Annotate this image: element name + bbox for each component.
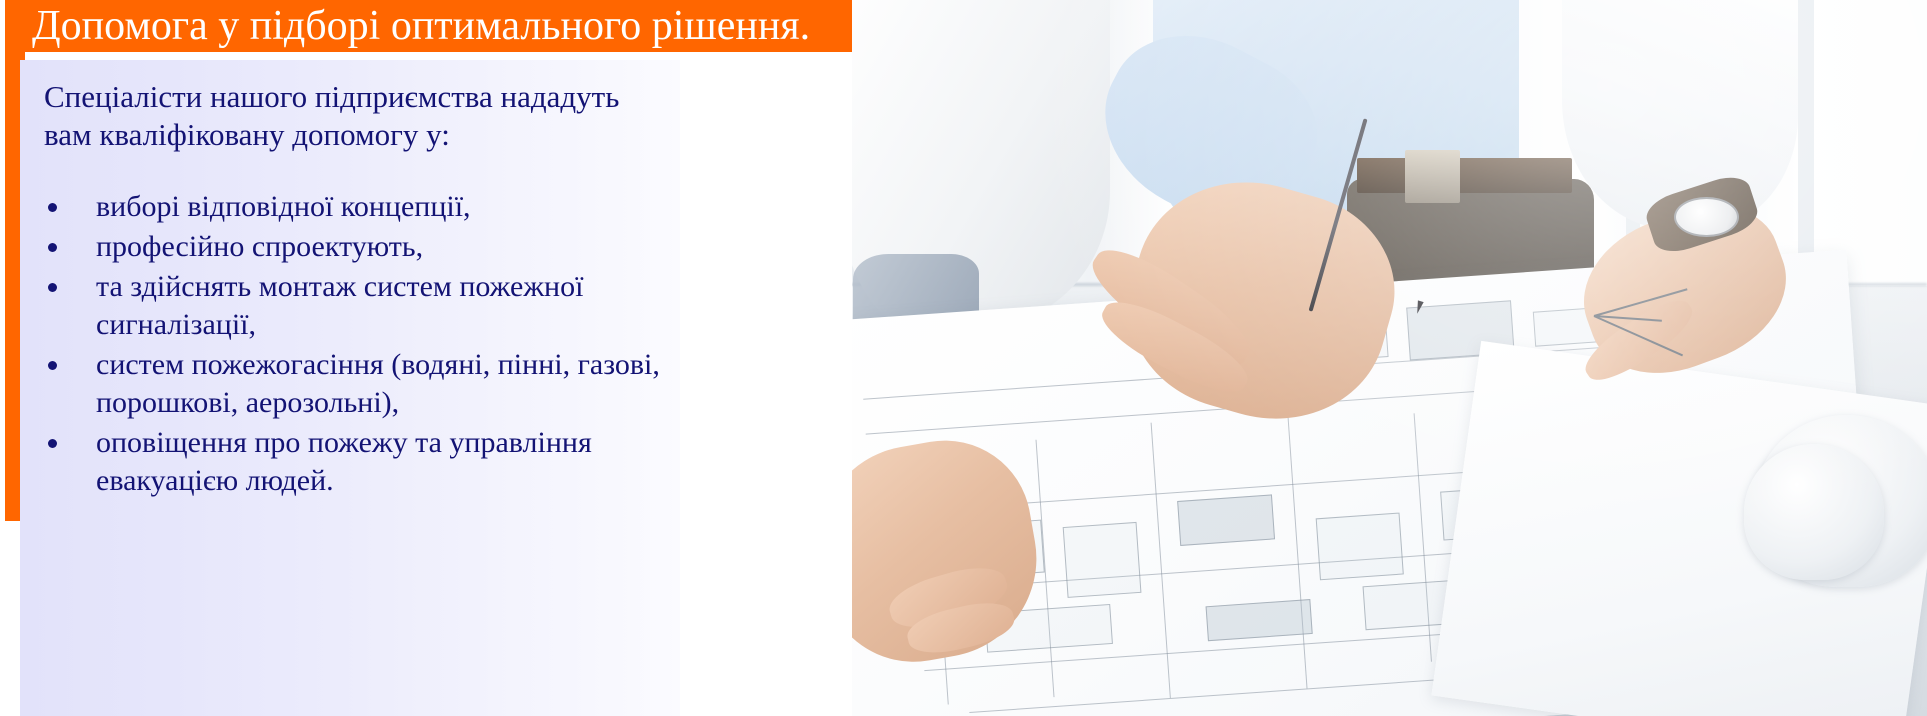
list-item-label: професійно спроектують, <box>96 230 423 263</box>
intro-paragraph: Спеціалісти нашого підприємства нададуть… <box>44 78 674 154</box>
bullet-dot-icon <box>48 203 57 212</box>
belt-buckle <box>1405 150 1461 204</box>
wristwatch-face <box>1674 197 1739 237</box>
slide-root: Допомога у підборі оптимального рішення.… <box>0 0 1927 716</box>
blueprint-photo <box>852 0 1927 716</box>
list-item: та здійснять монтаж систем пожежної сигн… <box>44 268 684 344</box>
bullet-dot-icon <box>48 439 57 448</box>
list-item-label: оповіщення про пожежу та управління евак… <box>96 426 592 497</box>
bullet-dot-icon <box>48 243 57 252</box>
person-left-torso <box>852 0 1110 329</box>
person-center-belt <box>1357 158 1572 194</box>
page-title: Допомога у підборі оптимального рішення. <box>22 3 810 49</box>
safety-helmet <box>1744 444 1884 580</box>
list-item-label: систем пожежогасіння (водяні, пінні, газ… <box>96 348 660 419</box>
bullet-dot-icon <box>48 283 57 292</box>
body-content: Спеціалісти нашого підприємства нададуть… <box>44 78 684 502</box>
bullet-dot-icon <box>48 361 57 370</box>
list-item-label: та здійснять монтаж систем пожежної сигн… <box>96 270 583 341</box>
drafting-compass-icon <box>1594 315 1691 351</box>
list-item: оповіщення про пожежу та управління евак… <box>44 424 684 500</box>
title-banner: Допомога у підборі оптимального рішення. <box>22 0 852 52</box>
services-bullet-list: вибopi відповідної концепції, професійно… <box>44 188 684 500</box>
list-item: професійно спроектують, <box>44 228 684 266</box>
list-item: вибopi відповідної концепції, <box>44 188 684 226</box>
list-item: систем пожежогасіння (водяні, пінні, газ… <box>44 346 684 422</box>
list-item-label: вибopi відповідної концепції, <box>96 190 471 223</box>
